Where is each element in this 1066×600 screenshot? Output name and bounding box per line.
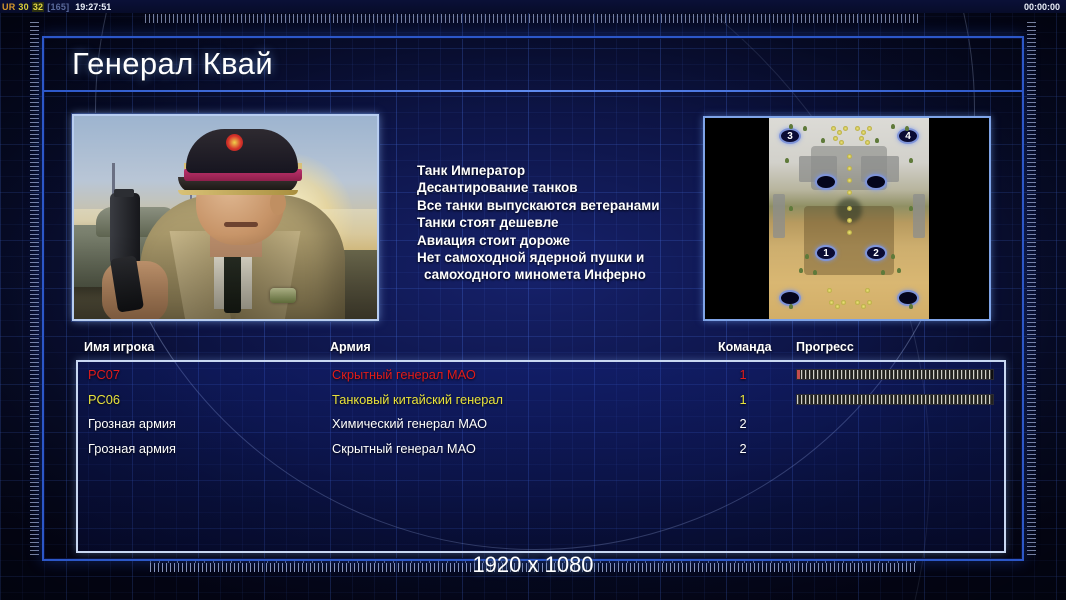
status-token-ur: UR: [2, 2, 15, 12]
title-divider: [44, 90, 1022, 92]
map-resource-node: [847, 206, 852, 211]
player-table-header: Имя игрока Армия Команда Прогресс: [84, 340, 1004, 358]
map-resource-node: [847, 178, 852, 183]
map-spawn-marker: [865, 174, 887, 190]
status-token-bracket: [165]: [47, 2, 69, 12]
status-timer: 00:00:00: [1024, 2, 1066, 12]
map-tree: [891, 254, 895, 259]
table-row[interactable]: PC07Скрытный генерал МАО1: [78, 364, 1004, 388]
map-tree: [803, 126, 807, 131]
player-progress-bar: [796, 394, 994, 405]
resolution-label: 1920 x 1080: [0, 552, 1066, 578]
column-header-team: Команда: [718, 340, 772, 354]
map-tree: [909, 206, 913, 211]
player-name-cell: PC06: [88, 392, 120, 407]
column-header-name: Имя игрока: [84, 340, 154, 354]
top-status-bar: UR 30 32 [165] 19:27:51 00:00:00: [0, 0, 1066, 13]
map-resource-node: [827, 288, 832, 293]
map-resource-node: [829, 300, 834, 305]
app-root: UR 30 32 [165] 19:27:51 00:00:00 Генерал…: [0, 0, 1066, 600]
status-token-n1: 30: [18, 2, 28, 12]
table-row[interactable]: Грозная армияСкрытный генерал МАО2: [78, 438, 1004, 462]
player-army-cell: Танковый китайский генерал: [332, 392, 503, 407]
player-team-cell: 2: [723, 441, 763, 456]
player-team-cell: 1: [723, 392, 763, 407]
column-header-army: Армия: [330, 340, 371, 354]
player-army-cell: Химический генерал МАО: [332, 416, 487, 431]
map-start-position-2: 2: [865, 245, 887, 261]
player-army-cell: Скрытный генерал МАО: [332, 441, 476, 456]
map-tree: [805, 254, 809, 259]
map-resource-node: [861, 130, 866, 135]
map-tree: [789, 206, 793, 211]
map-resource-node: [859, 136, 864, 141]
map-tree: [891, 124, 895, 129]
map-start-position-1: 1: [815, 245, 837, 261]
status-token-n2: 32: [32, 2, 44, 12]
table-row[interactable]: Грозная армияХимический генерал МАО2: [78, 413, 1004, 437]
map-tree: [909, 158, 913, 163]
map-resource-node: [861, 304, 866, 309]
player-name-cell: Грозная армия: [88, 441, 176, 456]
map-resource-node: [847, 166, 852, 171]
map-resource-node: [865, 140, 870, 145]
map-resource-node: [855, 300, 860, 305]
map-resource-node: [837, 130, 842, 135]
map-resource-node: [839, 140, 844, 145]
ability-line: самоходного миномета Инферно: [417, 266, 697, 283]
player-name-cell: Грозная армия: [88, 416, 176, 431]
ability-line: Нет самоходной ядерной пушки и: [417, 249, 697, 266]
player-progress-bar: [796, 369, 994, 380]
map-tree: [897, 268, 901, 273]
page-title: Генерал Квай: [72, 46, 273, 82]
player-progress-fill: [797, 370, 991, 379]
status-clock: 19:27:51: [75, 2, 111, 12]
map-resource-node: [847, 190, 852, 195]
ability-line: Танки стоят дешевле: [417, 214, 697, 231]
player-table: PC07Скрытный генерал МАО1PC06Танковый ки…: [76, 360, 1006, 553]
map-tree: [799, 268, 803, 273]
map-tree: [785, 158, 789, 163]
map-resource-node: [867, 126, 872, 131]
ability-line: Все танки выпускаются ветеранами: [417, 197, 697, 214]
ability-line: Авиация стоит дороже: [417, 232, 697, 249]
map-spawn-marker: [815, 174, 837, 190]
map-resource-node: [831, 126, 836, 131]
map-preview: 3412: [703, 116, 991, 321]
portrait-shading: [74, 116, 377, 319]
map-tree: [789, 124, 793, 129]
column-header-progress: Прогресс: [796, 340, 854, 354]
ability-line: Танк Император: [417, 162, 697, 179]
map-tree: [875, 138, 879, 143]
map-structure-west: [773, 194, 785, 238]
map-tree: [881, 270, 885, 275]
general-abilities-list: Танк ИмператорДесантирование танковВсе т…: [417, 162, 697, 284]
map-resource-node: [865, 288, 870, 293]
ability-line: Десантирование танков: [417, 179, 697, 196]
map-resource-node: [843, 126, 848, 131]
player-progress-marker: [797, 370, 800, 379]
map-tree: [813, 270, 817, 275]
map-resource-node: [835, 304, 840, 309]
map-tree: [789, 304, 793, 309]
map-resource-node: [847, 230, 852, 235]
player-army-cell: Скрытный генерал МАО: [332, 367, 476, 382]
map-image: 3412: [769, 118, 929, 319]
map-spawn-marker: [897, 290, 919, 306]
general-portrait: [72, 114, 379, 321]
player-name-cell: PC07: [88, 367, 120, 382]
player-progress-fill: [797, 395, 993, 404]
player-team-cell: 1: [723, 367, 763, 382]
map-tree: [905, 126, 909, 131]
map-resource-node: [847, 218, 852, 223]
player-team-cell: 2: [723, 416, 763, 431]
table-row[interactable]: PC06Танковый китайский генерал1: [78, 389, 1004, 413]
map-structure-east: [913, 194, 925, 238]
map-resource-node: [841, 300, 846, 305]
top-status-left: UR 30 32 [165] 19:27:51: [0, 2, 111, 12]
map-tree: [821, 138, 825, 143]
map-start-position-3: 3: [779, 128, 801, 144]
map-resource-node: [855, 126, 860, 131]
map-resource-node: [867, 300, 872, 305]
map-resource-node: [847, 154, 852, 159]
map-tree: [909, 304, 913, 309]
map-resource-node: [833, 136, 838, 141]
